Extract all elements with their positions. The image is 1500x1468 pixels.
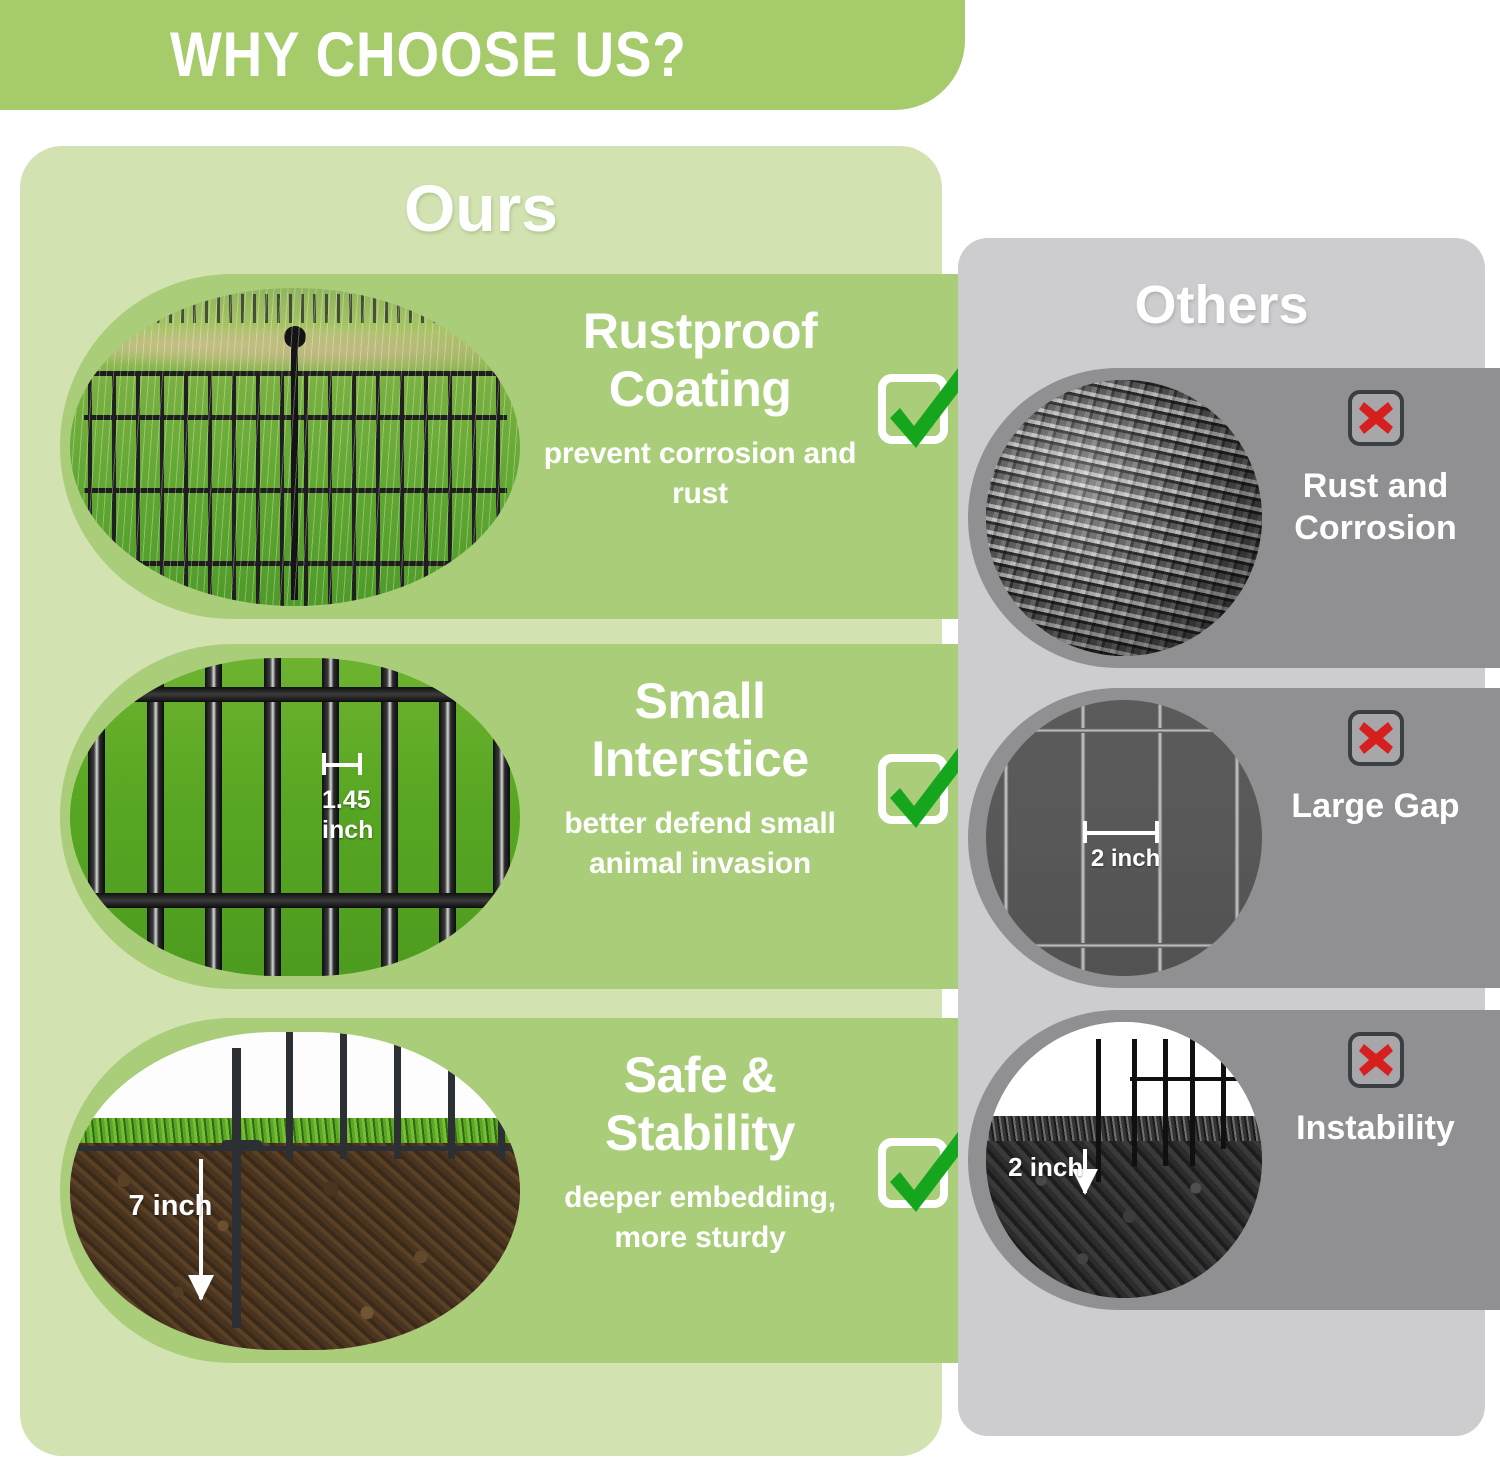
rusty-wire-roll-photo — [986, 380, 1262, 656]
ours-panel: Ours Rustproof Coating prevent corrosion… — [20, 146, 942, 1456]
other-label: Instability — [1268, 1107, 1483, 1149]
other-text-large-gap: Large Gap — [1268, 710, 1483, 827]
check-icon — [872, 1124, 966, 1218]
other-text-instability: Instability — [1268, 1032, 1483, 1149]
other-label: Rust and Corrosion — [1268, 465, 1483, 549]
check-icon — [872, 360, 966, 454]
fence-in-soil-photo: 7 inch — [70, 1032, 520, 1350]
measure-label-2-inch-depth: 2 inch — [1008, 1152, 1083, 1182]
check-icon — [872, 740, 966, 834]
other-card-rust-corrosion[interactable]: Rust and Corrosion — [968, 368, 1500, 668]
feature-card-small-interstice[interactable]: 1.45inch Small Interstice better defend … — [60, 644, 980, 989]
x-icon — [1348, 710, 1404, 766]
gray-wide-gap-fence-photo: 2 inch — [986, 700, 1262, 976]
other-label: Large Gap — [1268, 785, 1483, 827]
ours-panel-title: Ours — [20, 170, 942, 246]
others-panel-title: Others — [958, 274, 1485, 336]
feature-text-rustproof: Rustproof Coating prevent corrosion and … — [530, 302, 870, 514]
feature-title: Safe & Stability — [530, 1046, 870, 1162]
feature-card-safe-stability[interactable]: 7 inch Safe & Stability deeper embedding… — [60, 1018, 980, 1363]
fence-bar-closeup-photo: 1.45inch — [70, 658, 520, 976]
x-icon — [1348, 1032, 1404, 1088]
measure-label-2-inch-gap: 2 inch — [1091, 844, 1160, 874]
shallow-stake-soil-photo: 2 inch — [986, 1022, 1262, 1298]
feature-card-rustproof[interactable]: Rustproof Coating prevent corrosion and … — [60, 274, 980, 619]
feature-subtitle: better defend small animal invasion — [530, 804, 870, 884]
feature-text-small-interstice: Small Interstice better defend small ani… — [530, 672, 870, 884]
x-icon — [1348, 390, 1404, 446]
page-title: WHY CHOOSE US? — [170, 14, 831, 96]
feature-text-safe-stability: Safe & Stability deeper embedding, more … — [530, 1046, 870, 1258]
measure-label-1-45-inch: 1.45inch — [322, 785, 373, 845]
other-card-instability[interactable]: 2 inch Instability — [968, 1010, 1500, 1310]
other-card-large-gap[interactable]: 2 inch Large Gap — [968, 688, 1500, 988]
others-panel: Others Rust and Corrosion — [958, 238, 1485, 1436]
other-text-rust-corrosion: Rust and Corrosion — [1268, 390, 1483, 549]
feature-subtitle: prevent corrosion and rust — [530, 434, 870, 514]
feature-title: Rustproof Coating — [530, 302, 870, 418]
measure-label-7-inch: 7 inch — [129, 1191, 213, 1221]
feature-title: Small Interstice — [530, 672, 870, 788]
feature-subtitle: deeper embedding, more sturdy — [530, 1178, 870, 1258]
rain-on-fence-photo — [70, 288, 520, 606]
